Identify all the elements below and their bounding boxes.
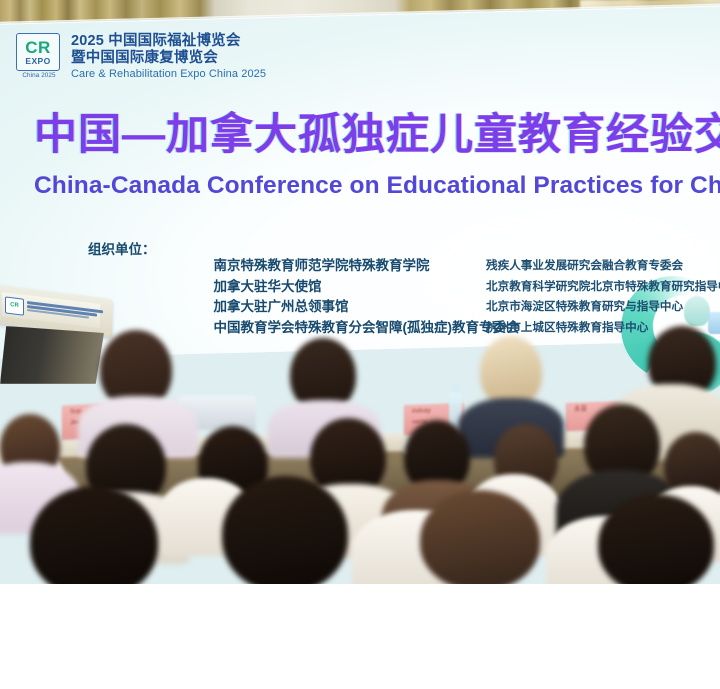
expo-title-line2: 暨中国国际康复博览会 bbox=[71, 50, 266, 67]
organizer-item: 北京教育科学研究院北京市特殊教育研究指导中心 bbox=[486, 277, 720, 298]
cr-expo-mark-icon: CR EXPO China 2025 bbox=[16, 32, 62, 80]
audience-head-foreground bbox=[420, 490, 540, 584]
cr-expo-badge-icon: CR EXPO bbox=[16, 33, 60, 71]
logo-mark-sub: China 2025 bbox=[16, 72, 62, 80]
screenshot-canvas: CR EXPO China 2025 2025 中国国际福祉博览会 暨中国国际康… bbox=[0, 0, 720, 689]
page-whitespace bbox=[0, 584, 720, 689]
conference-headline-cn: 中国—加拿大孤独症儿童教育经验交流会 bbox=[34, 110, 720, 160]
organizer-item: 北京市海淀区特殊教育研究与指导中心 bbox=[486, 297, 720, 318]
logo-mark-top: CR bbox=[25, 39, 51, 56]
expo-title-line1: 2025 中国国际福祉博览会 bbox=[71, 33, 266, 50]
expo-logo-lockup: CR EXPO China 2025 2025 中国国际福祉博览会 暨中国国际康… bbox=[16, 32, 266, 81]
logo-mark-bottom: EXPO bbox=[25, 56, 50, 66]
expo-title-block: 2025 中国国际福祉博览会 暨中国国际康复博览会 Care & Rehabil… bbox=[71, 32, 266, 81]
expo-title-english: Care & Rehabilitation Expo China 2025 bbox=[71, 67, 266, 81]
podium-sign-text bbox=[27, 301, 103, 322]
screen-content: CR EXPO China 2025 2025 中国国际福祉博览会 暨中国国际康… bbox=[8, 0, 720, 335]
speaker-podium: CR bbox=[0, 292, 116, 384]
conference-headline-en: China-Canada Conference on Educational P… bbox=[34, 170, 720, 202]
conference-photo: CR EXPO China 2025 2025 中国国际福祉博览会 暨中国国际康… bbox=[0, 0, 720, 584]
organizer-item: 残疾人事业发展研究会融合教育专委会 bbox=[486, 256, 720, 277]
audience-head-foreground bbox=[222, 476, 348, 584]
audience-head-foreground bbox=[598, 494, 714, 584]
podium-logo-icon: CR bbox=[5, 296, 24, 315]
podium-column bbox=[0, 326, 104, 384]
